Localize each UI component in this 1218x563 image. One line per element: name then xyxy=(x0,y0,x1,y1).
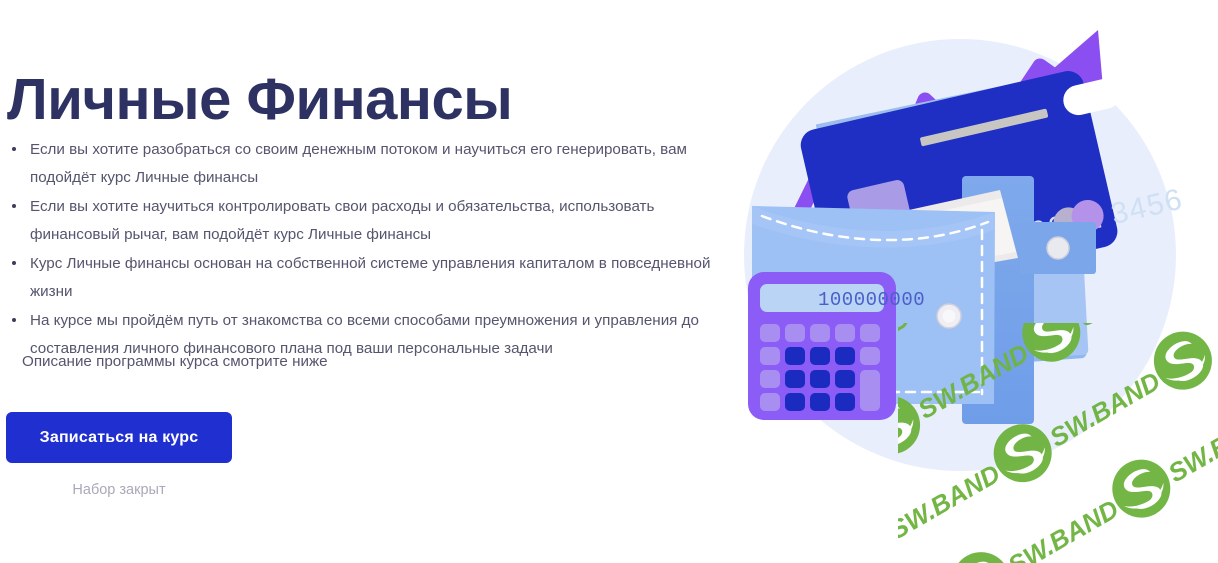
bullet-dot-icon xyxy=(12,318,16,322)
list-item: Если вы хотите разобраться со своим дене… xyxy=(8,136,730,192)
calculator-display: 100000000 xyxy=(818,289,925,311)
bullet-dot-icon xyxy=(12,147,16,151)
page-title: Личные Финансы xyxy=(7,65,512,135)
landing-hero: Личные Финансы Если вы хотите разобратьс… xyxy=(0,0,1218,563)
list-item-text: Если вы хотите разобраться со своим дене… xyxy=(30,141,687,186)
bullet-dot-icon xyxy=(12,204,16,208)
list-item-text: Курс Личные финансы основан на собственн… xyxy=(30,255,710,300)
list-item-text: Если вы хотите научиться контролировать … xyxy=(30,198,654,243)
program-note: Описание программы курса смотрите ниже xyxy=(22,348,328,376)
personal-finance-illustration: 1234 5678 9012 3456 xyxy=(700,0,1218,490)
feature-list: Если вы хотите разобраться со своим дене… xyxy=(8,136,730,364)
bullet-dot-icon xyxy=(12,261,16,265)
status-badge: Набор закрыт xyxy=(6,482,232,498)
list-item: Если вы хотите научиться контролировать … xyxy=(8,193,730,249)
list-item: Курс Личные финансы основан на собственн… xyxy=(8,250,730,306)
hero-content: Личные Финансы Если вы хотите разобратьс… xyxy=(0,0,760,563)
enroll-button[interactable]: Записаться на курс xyxy=(6,412,232,463)
